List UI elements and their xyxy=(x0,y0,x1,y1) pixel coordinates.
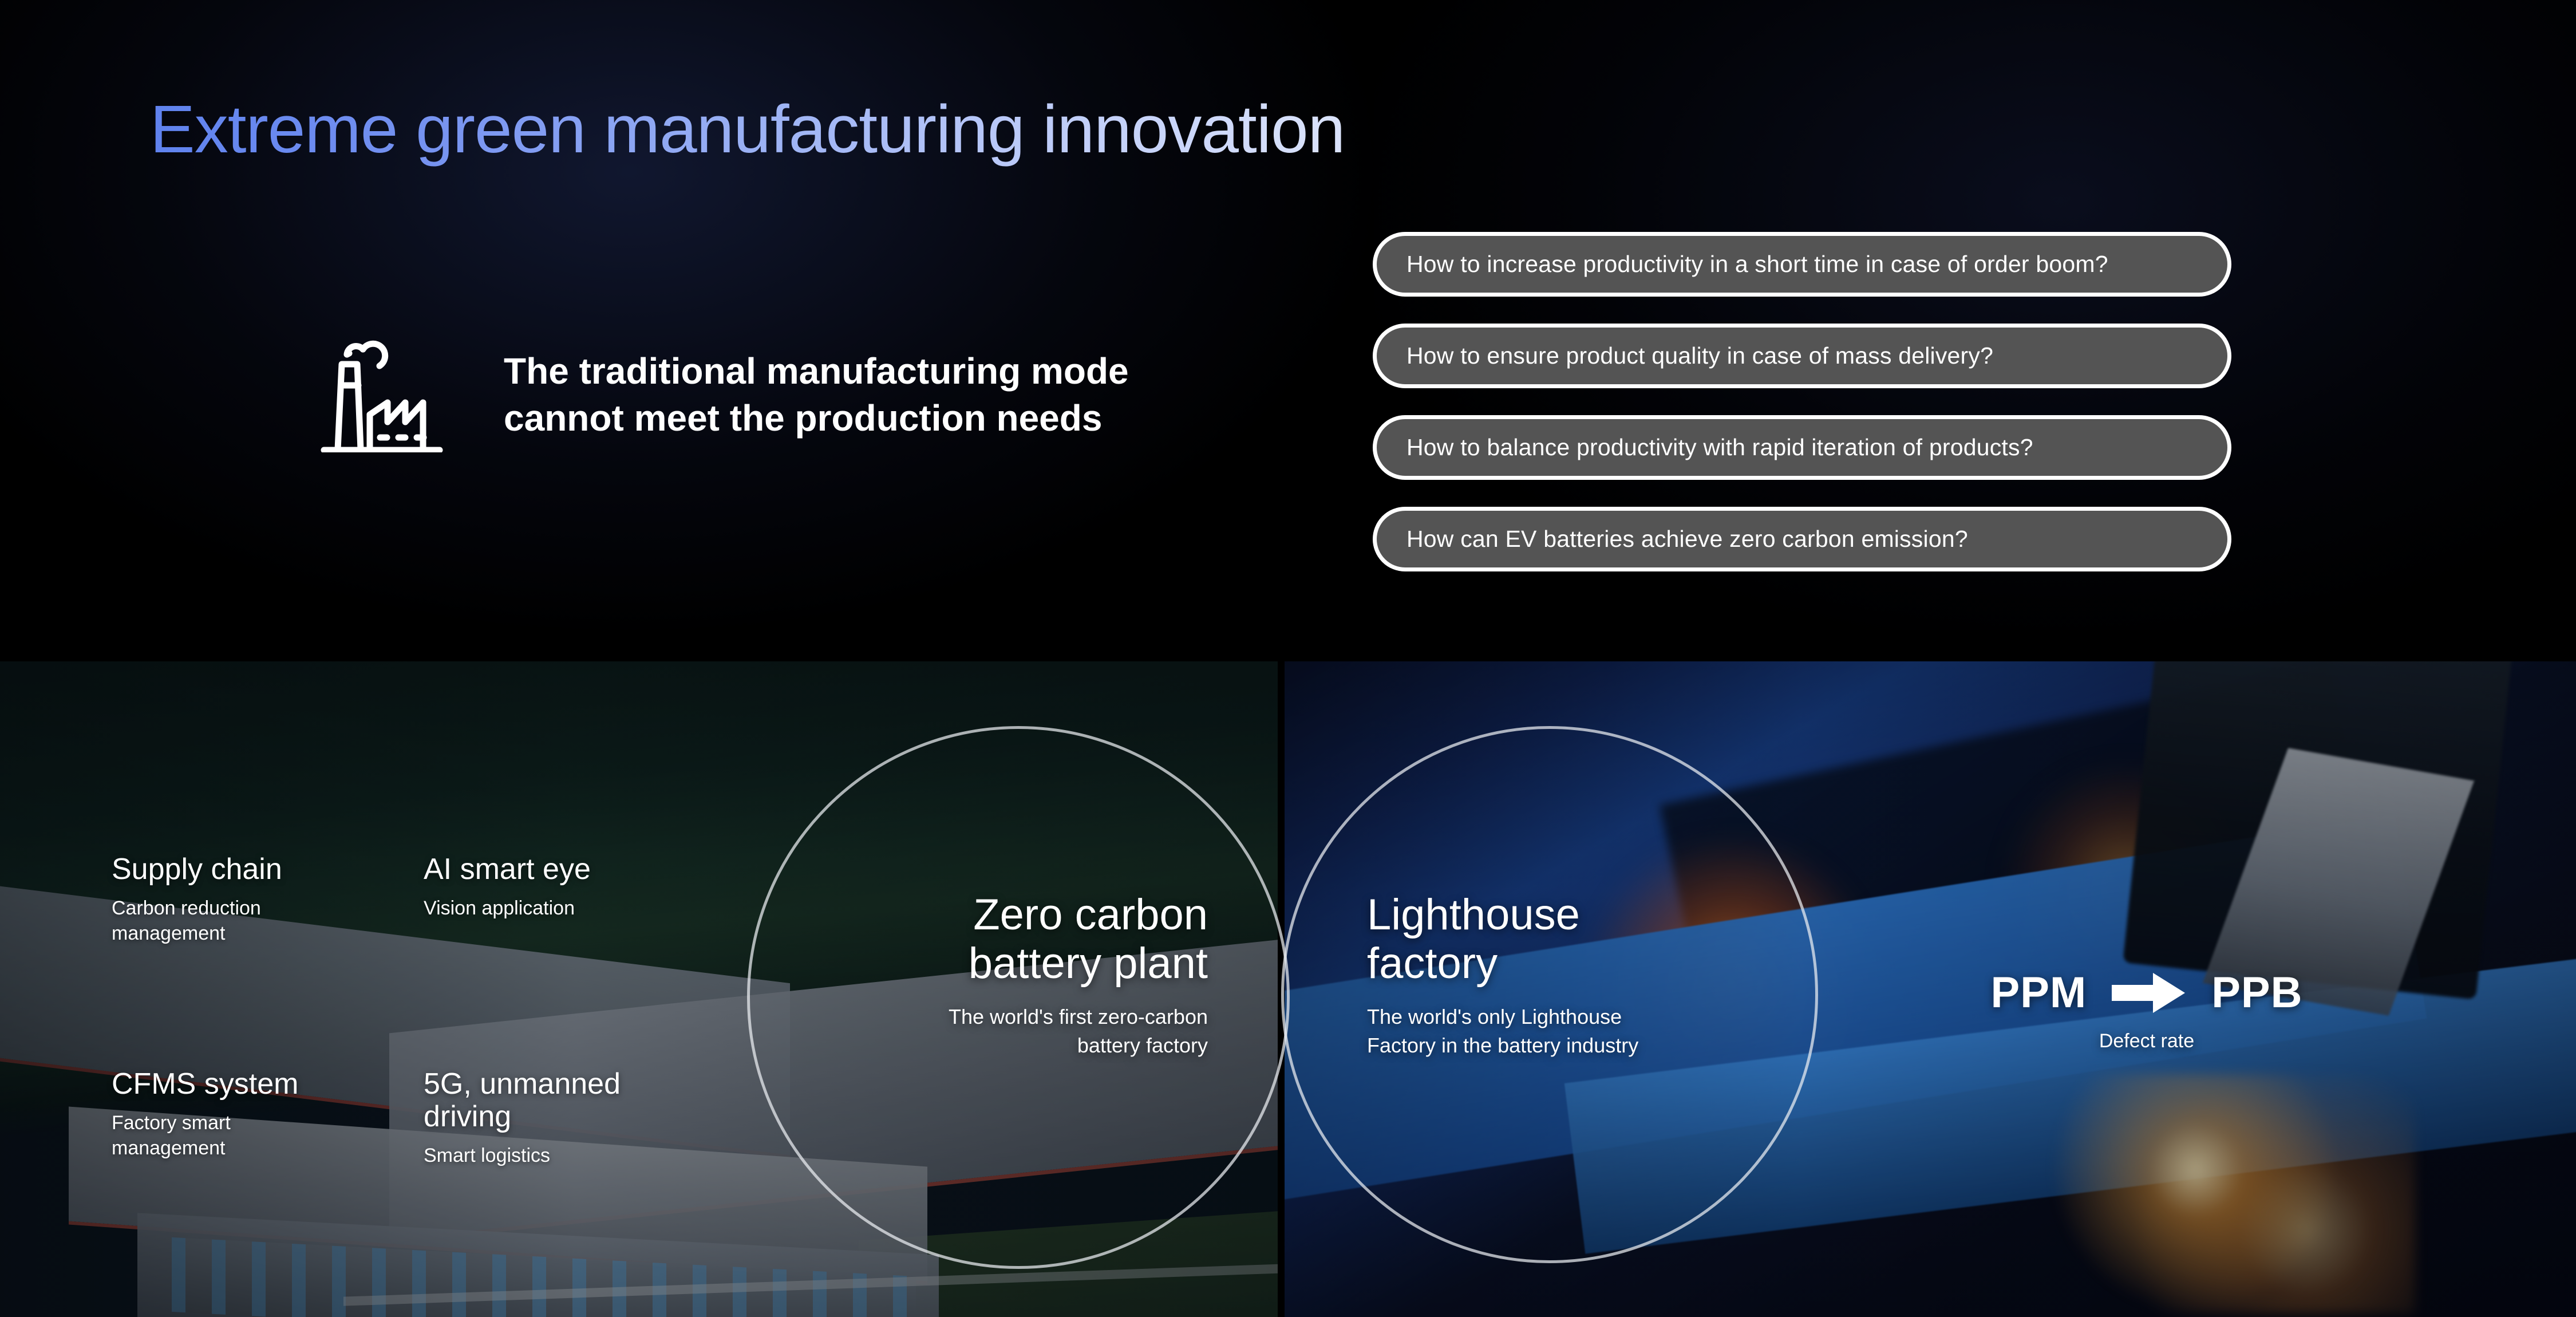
highlight-lighthouse-sub: The world's only Lighthouse Factory in t… xyxy=(1367,1003,1819,1059)
feature-ai-smart-eye-sub: Vision application xyxy=(424,896,591,921)
defect-rate-row: PPM PPB xyxy=(1935,968,2358,1018)
highlight-lighthouse-sub-2: Factory in the battery industry xyxy=(1367,1034,1638,1057)
feature-supply-chain-title: Supply chain xyxy=(112,853,282,886)
metric-caption: Defect rate xyxy=(1935,1030,2358,1052)
lede-line-2: cannot meet the production needs xyxy=(504,395,1305,442)
feature-5g-unmanned-driving-sub: Smart logistics xyxy=(424,1143,693,1169)
highlight-lighthouse-line-1: Lighthouse xyxy=(1367,890,1580,939)
question-pill-3-label: How to balance productivity with rapid i… xyxy=(1406,434,2033,461)
question-pill-2-label: How to ensure product quality in case of… xyxy=(1406,342,1993,369)
feature-ai-smart-eye: AI smart eye Vision application xyxy=(424,853,591,921)
question-pill-1-label: How to increase productivity in a short … xyxy=(1406,251,2108,278)
feature-cfms-system-sub: Factory smartmanagement xyxy=(112,1111,298,1161)
highlight-zero-carbon-heading: Zero carbon battery plant xyxy=(756,890,1208,988)
question-pill-4[interactable]: How can EV batteries achieve zero carbon… xyxy=(1373,507,2231,571)
arrow-right-icon xyxy=(2112,971,2186,1015)
metric-to-label: PPB xyxy=(2211,968,2302,1018)
feature-ai-smart-eye-title: AI smart eye xyxy=(424,853,591,886)
panel-divider xyxy=(1278,661,1285,1317)
highlight-lighthouse-sub-1: The world's only Lighthouse xyxy=(1367,1005,1622,1028)
defect-rate-metric: PPM PPB Defect rate xyxy=(1935,968,2358,1052)
question-pill-list: How to increase productivity in a short … xyxy=(1373,232,2231,571)
highlight-zero-carbon-line-1: Zero carbon xyxy=(973,890,1208,939)
highlight-zero-carbon-sub-1: The world's first zero-carbon xyxy=(949,1005,1208,1028)
feature-cfms-system-title: CFMS system xyxy=(112,1068,298,1101)
lede-heading: The traditional manufacturing mode canno… xyxy=(504,348,1305,442)
question-pill-1[interactable]: How to increase productivity in a short … xyxy=(1373,232,2231,297)
feature-cfms-system: CFMS system Factory smartmanagement xyxy=(112,1068,298,1161)
feature-5g-unmanned-driving-title: 5G, unmanned driving xyxy=(424,1068,693,1133)
question-pill-4-label: How can EV batteries achieve zero carbon… xyxy=(1406,526,1968,553)
feature-supply-chain: Supply chain Carbon reductionmanagement xyxy=(112,853,282,946)
highlight-lighthouse-heading: Lighthouse factory xyxy=(1367,890,1819,988)
feature-supply-chain-sub: Carbon reductionmanagement xyxy=(112,896,282,946)
highlight-zero-carbon-line-2: battery plant xyxy=(969,939,1208,988)
highlight-lighthouse-line-2: factory xyxy=(1367,939,1498,988)
top-section: Extreme green manufacturing innovation xyxy=(0,0,2576,661)
slide-root: Extreme green manufacturing innovation xyxy=(0,0,2576,1317)
factory-icon xyxy=(309,309,452,452)
metric-from-label: PPM xyxy=(1991,968,2087,1018)
lede-line-1: The traditional manufacturing mode xyxy=(504,348,1305,395)
question-pill-2[interactable]: How to ensure product quality in case of… xyxy=(1373,324,2231,388)
feature-5g-unmanned-driving: 5G, unmanned driving Smart logistics xyxy=(424,1068,693,1169)
highlight-zero-carbon-sub: The world's first zero-carbon battery fa… xyxy=(756,1003,1208,1059)
highlight-zero-carbon-battery-plant: Zero carbon battery plant The world's fi… xyxy=(756,890,1208,1060)
page-title: Extreme green manufacturing innovation xyxy=(150,90,1345,168)
highlight-lighthouse-factory: Lighthouse factory The world's only Ligh… xyxy=(1367,890,1819,1060)
highlight-zero-carbon-sub-2: battery factory xyxy=(1077,1034,1208,1057)
question-pill-3[interactable]: How to balance productivity with rapid i… xyxy=(1373,415,2231,480)
